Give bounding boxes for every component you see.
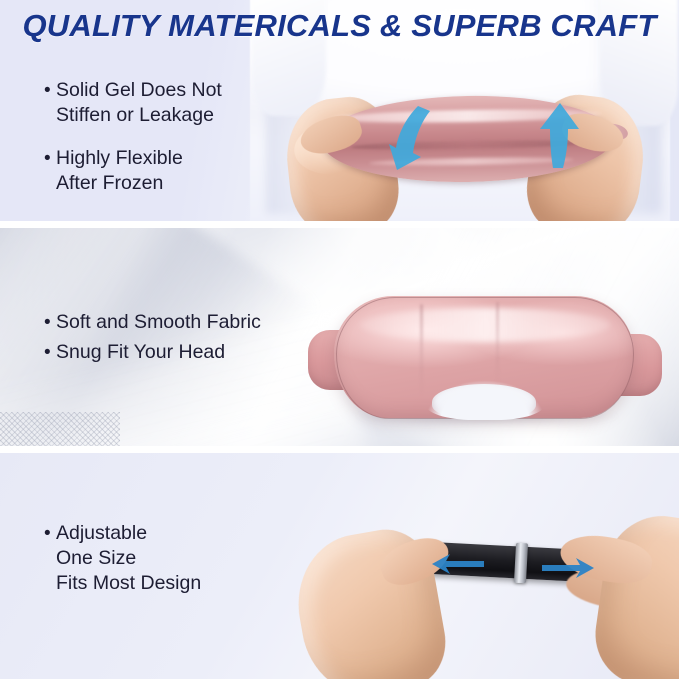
bullet-marker: • <box>44 521 56 546</box>
bullet-text: Soft and Smooth Fabric <box>56 310 261 335</box>
fabric-mesh-texture <box>0 412 120 446</box>
panel1-bullet-list: • Solid Gel Does Not Stiffen or Leakage … <box>44 78 222 196</box>
mask-crease <box>420 304 423 396</box>
bullet-marker: • <box>44 78 56 103</box>
strap-metal-buckle <box>514 543 528 584</box>
strap-arrow-left-icon <box>430 553 486 575</box>
bullet-marker: • <box>44 146 56 171</box>
bullet-item: • Snug Fit Your Head <box>44 340 261 365</box>
stretch-arrow-down-left-icon <box>388 104 434 174</box>
bullet-text: Adjustable One Size Fits Most Design <box>56 521 201 596</box>
bullet-marker: • <box>44 340 56 365</box>
bullet-item: • Adjustable One Size Fits Most Design <box>44 521 201 596</box>
bullet-item: • Highly Flexible After Frozen <box>44 146 222 196</box>
panel2-bullet-list: • Soft and Smooth Fabric • Snug Fit Your… <box>44 310 261 365</box>
bullet-item: • Solid Gel Does Not Stiffen or Leakage <box>44 78 222 128</box>
bullet-text: Highly Flexible After Frozen <box>56 146 183 196</box>
page-title: QUALITY MATERICALS & SUPERB CRAFT <box>0 8 679 44</box>
mask-crease <box>496 302 499 388</box>
stretch-arrow-up-right-icon <box>538 102 582 170</box>
bullet-item: • Soft and Smooth Fabric <box>44 310 261 335</box>
bullet-text: Solid Gel Does Not Stiffen or Leakage <box>56 78 222 128</box>
panel3-bullet-list: • Adjustable One Size Fits Most Design <box>44 521 201 596</box>
bullet-text: Snug Fit Your Head <box>56 340 225 365</box>
strap-arrow-right-icon <box>540 557 596 579</box>
product-infographic: • Solid Gel Does Not Stiffen or Leakage … <box>0 0 679 679</box>
bullet-marker: • <box>44 310 56 335</box>
mask-nose-notch <box>425 380 545 420</box>
pink-silk-eye-mask <box>300 290 670 420</box>
panel-adjustable-strap: • Adjustable One Size Fits Most Design <box>0 453 679 679</box>
mask-highlight <box>360 308 610 342</box>
